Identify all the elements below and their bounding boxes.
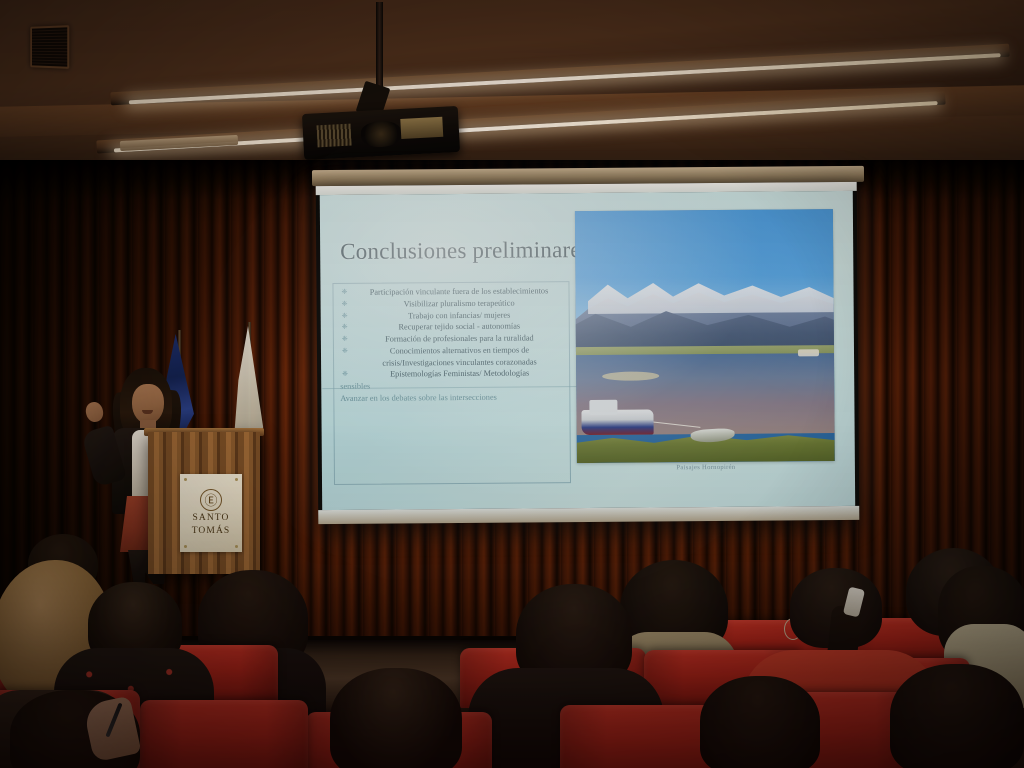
list-item-text: sensibles [340, 382, 370, 391]
bullet-diamond-icon: ❈ [342, 335, 348, 345]
list-item: ❈ Conocimientos alternativos en tiempos … [340, 344, 563, 369]
list-item-text: Participación vinculante fuera de los es… [370, 286, 549, 296]
attendee-front-right [890, 664, 1024, 768]
list-item-text: Recuperar tejido social - autonomías [398, 322, 520, 332]
santo-tomas-crest-icon: Ⓔ [200, 489, 222, 511]
seat[interactable] [140, 700, 308, 768]
plaque-line-2: TOMÁS [192, 527, 231, 537]
list-item-text: Avanzar en los debates sobre las interse… [340, 393, 497, 403]
projection-screen[interactable]: Conclusiones preliminares ❈ Participació… [316, 182, 860, 524]
air-vent-icon [30, 25, 69, 69]
list-item-text: Visibilizar pluralismo terapeútico [404, 298, 515, 308]
photo-boat-cabin [589, 400, 617, 415]
plaque-screw [235, 478, 238, 481]
bullet-diamond-icon: ❈ [342, 347, 348, 357]
wooden-lectern: Ⓔ SANTO TOMÁS [148, 432, 260, 574]
list-item-text: Conocimientos alternativos en tiempos de… [382, 345, 536, 367]
list-item-text: Trabajo con infancias/ mujeres [408, 310, 510, 320]
slide-bullet-frame: ❈ Participación vinculante fuera de los … [332, 281, 571, 485]
list-item-text: Epistemologías Feministas/ Metodologías [390, 369, 529, 379]
presentation-slide: Conclusiones preliminares ❈ Participació… [320, 191, 855, 510]
slide-title: Conclusiones preliminares [340, 237, 590, 265]
bullet-diamond-icon: ❈ [341, 288, 347, 298]
bullet-diamond-icon: ❈ [342, 311, 348, 321]
ceiling-projector [302, 106, 460, 160]
photo-distant-boat [798, 349, 819, 357]
attendee-front-right-mid [700, 676, 820, 768]
photo-caption: Paisajes Hornopirén [577, 463, 835, 472]
plaque-screw [184, 545, 187, 548]
projector-lens-icon [360, 120, 401, 148]
plaque-line-1: SANTO [193, 514, 230, 524]
bullet-diamond-icon: ❈ [342, 323, 348, 333]
list-item: Avanzar en los debates sobre las interse… [340, 391, 563, 405]
plaque-screw [235, 545, 238, 548]
projector-vent-right [400, 117, 443, 139]
plaque-screw [184, 478, 187, 481]
presenter-face [132, 384, 164, 424]
attendee-bangs [330, 668, 462, 768]
lectern-brand-plaque: Ⓔ SANTO TOMÁS [180, 474, 242, 552]
bullet-diamond-icon: ❈ [342, 300, 348, 310]
fjord-landscape-photo [575, 209, 835, 463]
projector-vent-left [317, 124, 352, 148]
presenter-gesturing-hand [84, 400, 105, 424]
bullet-diamond-icon: ❈ [342, 370, 348, 380]
list-item-text: Formación de profesionales para la rural… [385, 334, 534, 344]
auditorium-scene: Conclusiones preliminares ❈ Participació… [0, 0, 1024, 768]
